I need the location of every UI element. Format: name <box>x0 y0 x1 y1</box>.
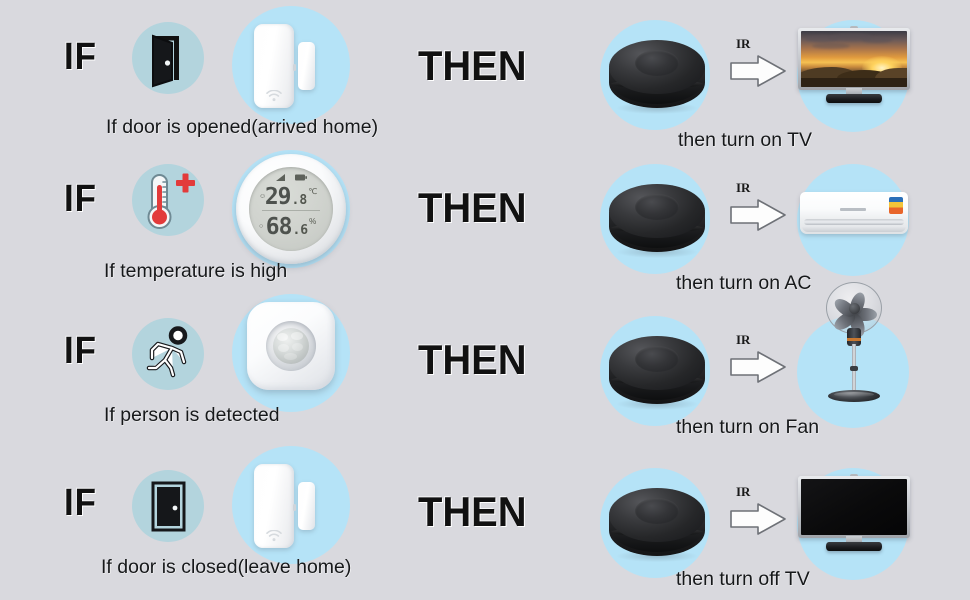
ir-blaster-hub <box>605 172 709 264</box>
ac-body <box>800 192 908 234</box>
puck-button[interactable] <box>635 50 679 76</box>
ac-bottom-lip <box>802 226 906 232</box>
ac-brand-mark <box>840 208 866 211</box>
tv-stand-base <box>826 94 882 103</box>
arrow-right-icon <box>728 349 790 385</box>
sensor-magnet-piece <box>298 42 315 90</box>
ir-signal-group: IR <box>728 484 790 544</box>
ir-label: IR <box>736 484 750 500</box>
door-window-sensor <box>240 452 340 560</box>
fan-base-highlight <box>834 392 874 397</box>
arrow-right-icon <box>728 53 790 89</box>
door-open-icon <box>132 22 204 94</box>
ir-signal-group: IR <box>728 36 790 96</box>
fan-accent-band <box>847 338 861 341</box>
battery-icon <box>295 174 307 181</box>
ir-blaster-hub <box>605 28 709 120</box>
condition-caption: If temperature is high <box>104 260 287 283</box>
then-label: THEN <box>418 42 527 90</box>
lcd-humidity-decimal: .6 <box>292 223 308 238</box>
fan-head <box>826 282 882 334</box>
scenario-row-person-detected: IF <box>0 288 970 438</box>
condition-icon-circle <box>132 318 204 390</box>
puck-button[interactable] <box>635 498 679 524</box>
action-caption: then turn off TV <box>676 568 810 591</box>
wifi-icon <box>265 530 283 542</box>
puck-button[interactable] <box>635 194 679 220</box>
scenario-row-temperature-high: IF <box>0 144 970 294</box>
tv-screen-image-sunset <box>801 31 907 87</box>
condition-caption: If person is detected <box>104 404 280 427</box>
condition-icon-circle <box>132 164 204 236</box>
tv-screen <box>801 479 907 535</box>
condition-icon-circle <box>132 22 204 94</box>
stand-fan <box>812 282 896 410</box>
lcd-temperature-unit: ℃ <box>308 187 317 196</box>
condition-device-circle <box>232 6 350 124</box>
tv-on <box>798 28 910 110</box>
if-label: IF <box>64 36 97 79</box>
condition-caption: If door is opened(arrived home) <box>106 116 378 139</box>
lcd-humidity-row: 68 .6 % <box>249 214 333 240</box>
ir-signal-group: IR <box>728 332 790 392</box>
arrow-right-icon <box>728 501 790 537</box>
lcd-humidity-value: 68 <box>266 214 292 240</box>
condition-icon-circle <box>132 470 204 542</box>
then-label: THEN <box>418 184 527 232</box>
fan-hub <box>849 303 860 314</box>
lcd-temperature-row: 29 .8 ℃ <box>249 184 333 210</box>
running-person-icon <box>132 318 204 390</box>
ac-air-vent <box>804 219 904 225</box>
pir-lens <box>273 328 309 364</box>
tv-stand-base <box>826 542 882 551</box>
lcd-temperature-decimal: .8 <box>292 193 308 208</box>
fan-height-collar[interactable] <box>850 366 858 371</box>
lcd-temperature-value: 29 <box>265 184 291 210</box>
arrow-right-icon <box>728 197 790 233</box>
sensor-seam <box>293 504 296 511</box>
tv-screen <box>801 31 907 87</box>
ir-blaster-hub <box>605 324 709 416</box>
pir-dome <box>266 321 316 371</box>
ir-label: IR <box>736 36 750 52</box>
signal-icon <box>276 174 286 181</box>
door-closed-icon <box>132 470 204 542</box>
ac-energy-badge <box>889 197 903 214</box>
action-caption: then turn on Fan <box>676 416 819 439</box>
thermometer-high-icon <box>132 164 204 236</box>
scenario-row-door-closed: IF THEN <box>0 440 970 590</box>
tv-screen-blank <box>801 479 907 535</box>
then-label: THEN <box>418 336 527 384</box>
temperature-humidity-sensor: ☺ ○ 29 .8 ℃ 68 .6 % <box>236 154 346 264</box>
pir-motion-sensor <box>247 302 335 390</box>
sensor-magnet-piece <box>298 482 315 530</box>
lcd-humidity-unit: % <box>309 217 316 226</box>
then-label: THEN <box>418 488 527 536</box>
ir-label: IR <box>736 332 750 348</box>
condition-caption: If door is closed(leave home) <box>101 556 351 579</box>
sensor-seam <box>293 64 296 71</box>
lcd-status-icons <box>249 174 333 181</box>
lcd-divider <box>262 210 320 211</box>
ir-label: IR <box>736 180 750 196</box>
door-window-sensor <box>240 12 340 120</box>
wifi-icon <box>265 90 283 102</box>
tv-frame <box>798 476 910 538</box>
tv-off <box>798 476 910 558</box>
ir-signal-group: IR <box>728 180 790 240</box>
ir-blaster-hub <box>605 476 709 568</box>
scenario-row-door-opened: IF THEN <box>0 0 970 150</box>
condition-device-circle <box>232 446 350 564</box>
sensor-lcd: ☺ ○ 29 .8 ℃ 68 .6 % <box>249 167 333 251</box>
if-label: IF <box>64 330 97 373</box>
air-conditioner <box>800 192 908 234</box>
automation-scenarios-board: IF THEN <box>0 0 970 600</box>
tv-frame <box>798 28 910 90</box>
puck-button[interactable] <box>635 346 679 372</box>
if-label: IF <box>64 178 97 221</box>
if-label: IF <box>64 482 97 525</box>
